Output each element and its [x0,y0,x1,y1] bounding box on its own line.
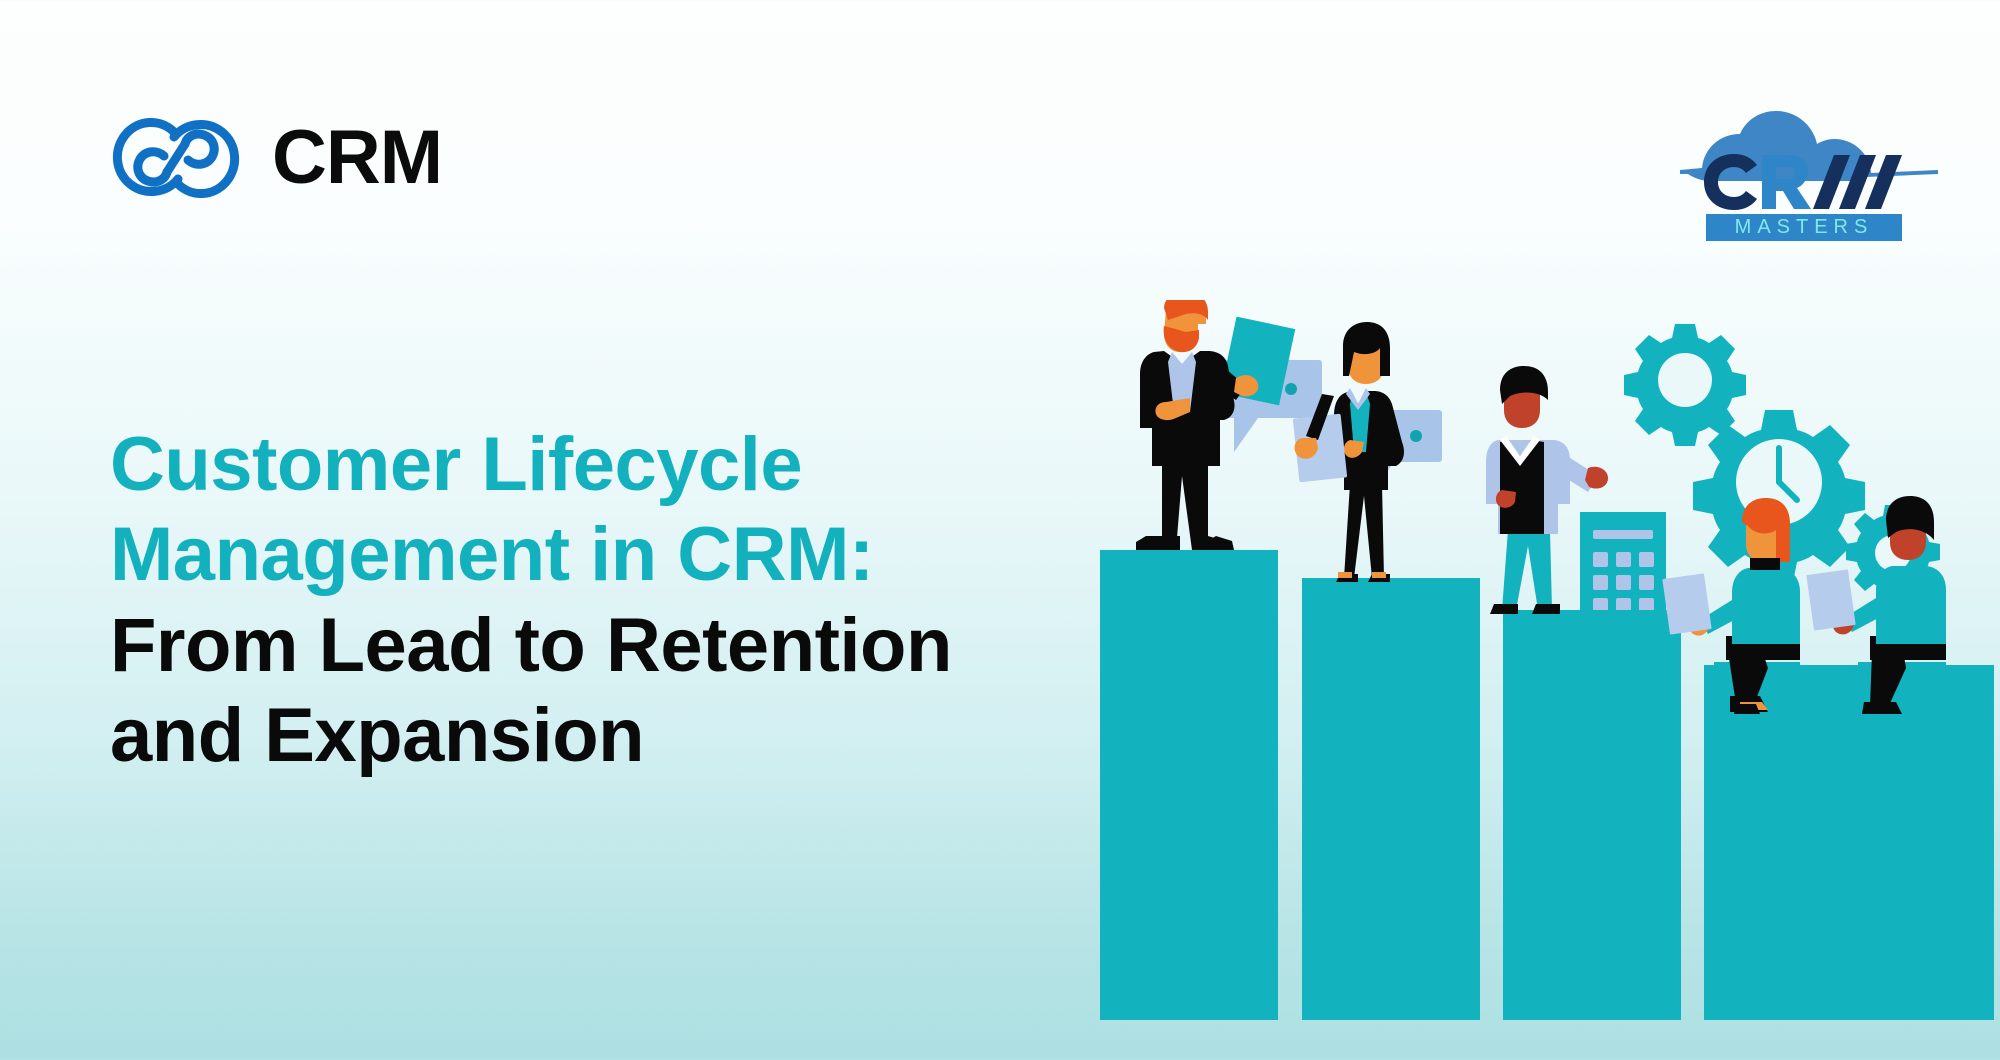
bar-prospect [1302,578,1480,1020]
page-title: Customer Lifecycle Management in CRM: Fr… [110,420,1150,782]
zoho-crm-logo[interactable]: CRM [108,112,442,204]
headline-line-4: and Expansion [110,691,1150,781]
crm-masters-logo[interactable]: MASTERS [1680,108,1938,248]
masters-crm-letters [1704,154,1902,210]
bar-lead [1100,550,1278,1020]
headline-line-2: Management in CRM: [110,510,1150,600]
figure-standing-bearded-man-with-document [1136,300,1295,550]
zoho-infinity-loop-icon [108,112,244,204]
headline-line-1: Customer Lifecycle [110,420,1150,510]
bar-customer [1503,610,1681,1020]
masters-tagline: MASTERS [1735,216,1874,238]
headline-line-3: From Lead to Retention [110,601,1150,691]
zoho-crm-wordmark: CRM [272,120,442,196]
business-team-growth-bars-illustration [1100,300,2000,1060]
